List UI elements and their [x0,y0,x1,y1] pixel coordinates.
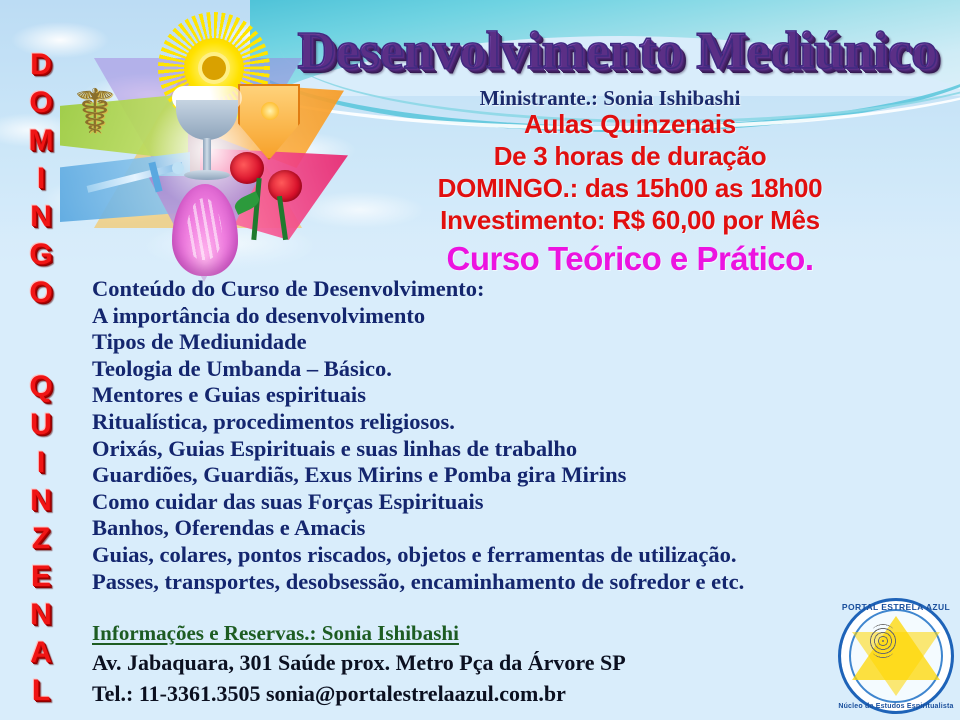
logo-spiral-icon [868,624,898,658]
caduceus-icon: ☤ [74,80,144,166]
chalice-cup [176,100,238,140]
content-line: Como cuidar das suas Forças Espirituais [92,489,912,516]
logo-bottom-text: Núcleo de Estudos Espiritualista [838,703,954,710]
rose-bloom-2 [268,170,302,202]
chalice-base [184,170,230,180]
content-line: Banhos, Oferendas e Amacis [92,515,912,542]
chalice-stem [203,138,211,172]
page-title-text: Desenvolvimento Mediúnico [297,22,937,80]
info-line: Investimento: R$ 60,00 por Mês [300,204,960,236]
vertical-letter: N [18,198,64,236]
vertical-letter: G [18,236,64,274]
info-line: Aulas Quinzenais [300,108,960,140]
content-line: Guardiões, Guardiãs, Exus Mirins e Pomba… [92,462,912,489]
content-line: Conteúdo do Curso de Desenvolvimento: [92,276,912,303]
vertical-letter: N [18,596,64,634]
vertical-letter: O [18,84,64,122]
vertical-letter: M [18,122,64,160]
contact-block: Informações e Reservas.: Sonia Ishibashi… [92,620,892,709]
course-type-highlight: Curso Teórico e Prático. [300,239,960,279]
rose-stem-2 [277,196,288,240]
vertical-letter: N [18,482,64,520]
info-line: De 3 horas de duração [300,140,960,172]
course-info-block: Aulas Quinzenais De 3 horas de duração D… [300,108,960,279]
vertical-letter: Z [18,520,64,558]
rose-stem-1 [251,178,261,240]
vertical-letter: Q [18,368,64,406]
vertical-letter: L [18,672,64,710]
reservations-line[interactable]: Informações e Reservas.: Sonia Ishibashi [92,620,892,647]
address-line: Av. Jabaquara, 301 Saúde prox. Metro Pça… [92,647,892,678]
info-line: DOMINGO.: das 15h00 as 18h00 [300,172,960,204]
vertical-letter: A [18,634,64,672]
content-line: Passes, transportes, desobsessão, encami… [92,569,912,596]
poster-canvas: ☤ Desenvolvimento Mediúnico Ministrante.… [0,0,960,720]
content-line: Ritualística, procedimentos religiosos. [92,409,912,436]
content-line: Tipos de Mediunidade [92,329,912,356]
sword-blade [87,162,184,193]
vertical-letter: U [18,406,64,444]
content-line: Teologia de Umbanda – Básico. [92,356,912,383]
vertical-letter: I [18,160,64,198]
content-line: Mentores e Guias espirituais [92,382,912,409]
content-line: Guias, colares, pontos riscados, objetos… [92,542,912,569]
content-line: A importância do desenvolvimento [92,303,912,330]
vertical-letter: I [18,444,64,482]
content-line: Orixás, Guias Espirituais e suas linhas … [92,436,912,463]
phone-email-line[interactable]: Tel.: 11-3361.3505 sonia@portalestrelaaz… [92,678,892,709]
page-title: Desenvolvimento Mediúnico [285,22,950,84]
logo-hexagram-icon [852,614,940,698]
vertical-letter: D [18,46,64,84]
vertical-letter: O [18,274,64,312]
vertical-word-domingo: D O M I N G O [18,46,64,312]
course-content-list: Conteúdo do Curso de Desenvolvimento: A … [92,276,912,595]
vertical-letter: E [18,558,64,596]
vertical-word-quinzenal: Q U I N Z E N A L [18,368,64,710]
logo-top-text: PORTAL ESTRELA AZUL [838,602,954,612]
portal-estrela-azul-logo: PORTAL ESTRELA AZUL Núcleo de Estudos Es… [838,598,954,714]
